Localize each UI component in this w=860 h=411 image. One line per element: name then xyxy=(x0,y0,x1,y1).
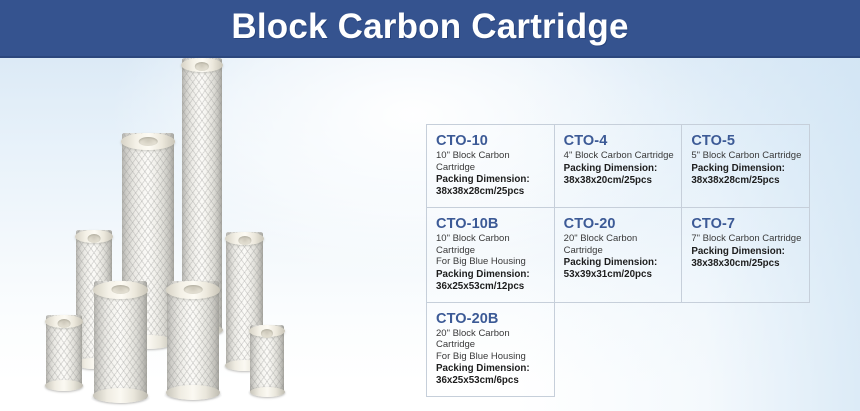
cartridge-top-rim xyxy=(181,58,223,72)
cartridge-bottom-rim xyxy=(166,385,220,400)
cartridge-core-hole xyxy=(238,236,251,245)
spec-pack-label: Packing Dimension: xyxy=(436,269,548,281)
cartridge-bottom-rim xyxy=(45,380,82,391)
page-title: Block Carbon Cartridge xyxy=(0,0,860,56)
product-spec-page: Block Carbon Cartridge xyxy=(0,0,860,411)
spec-cell-cto-7: CTO-7 7ʺ Block Carbon Cartridge Packing … xyxy=(682,208,810,303)
spec-pack-label: Packing Dimension: xyxy=(436,174,548,186)
spec-cell-cto-10: CTO-10 10ʺ Block Carbon Cartridge Packin… xyxy=(427,125,555,208)
cartridge-core-hole xyxy=(139,137,158,146)
header-bar: Block Carbon Cartridge xyxy=(0,0,860,58)
spec-code: CTO-4 xyxy=(564,133,676,149)
spec-code: CTO-20 xyxy=(564,216,676,232)
spec-cell-cto-20b: CTO-20B 20ʺ Block Carbon Cartridge For B… xyxy=(427,302,555,397)
table-row: CTO-20B 20ʺ Block Carbon Cartridge For B… xyxy=(427,302,810,397)
spec-code: CTO-20B xyxy=(436,311,548,327)
spec-code: CTO-10B xyxy=(436,216,548,232)
spec-cell-cto-5: CTO-5 5ʺ Block Carbon Cartridge Packing … xyxy=(682,125,810,208)
cartridge-bottom-rim xyxy=(93,388,148,403)
spec-pack-value: 36x25x53cm/6pcs xyxy=(436,375,548,387)
spec-desc: 4ʺ Block Carbon Cartridge xyxy=(564,150,676,162)
spec-desc: 20ʺ Block Carbon Cartridge xyxy=(564,233,676,256)
table-row: CTO-10 10ʺ Block Carbon Cartridge Packin… xyxy=(427,125,810,208)
cartridge-5-inch xyxy=(46,315,82,387)
cartridge-top-rim xyxy=(249,325,285,337)
cartridge-core-hole xyxy=(195,62,209,71)
cartridge-top-rim xyxy=(93,281,149,299)
cartridge-10b-big-blue-center xyxy=(167,281,219,396)
spec-desc: 10ʺ Block Carbon Cartridge xyxy=(436,233,548,256)
cartridge-10b-big-blue xyxy=(94,281,147,399)
spec-cell-empty xyxy=(554,302,682,397)
cartridge-4-inch xyxy=(250,325,284,393)
spec-pack-value: 38x38x30cm/25pcs xyxy=(691,258,803,270)
spec-pack-value: 38x38x28cm/25pcs xyxy=(436,186,548,198)
spec-code: CTO-10 xyxy=(436,133,548,149)
cartridge-top-rim xyxy=(166,281,221,299)
spec-pack-label: Packing Dimension: xyxy=(564,257,676,269)
spec-desc: 7ʺ Block Carbon Cartridge xyxy=(691,233,803,245)
spec-desc: 20ʺ Block Carbon Cartridge xyxy=(436,328,548,351)
spec-cell-cto-4: CTO-4 4ʺ Block Carbon Cartridge Packing … xyxy=(554,125,682,208)
spec-pack-label: Packing Dimension: xyxy=(436,363,548,375)
spec-cell-cto-10b: CTO-10B 10ʺ Block Carbon Cartridge For B… xyxy=(427,208,555,303)
spec-cell-empty xyxy=(682,302,810,397)
spec-pack-label: Packing Dimension: xyxy=(691,246,803,258)
cartridge-core-hole xyxy=(261,329,273,338)
spec-pack-value: 38x38x20cm/25pcs xyxy=(564,175,676,187)
cartridge-core-hole xyxy=(88,234,101,243)
spec-desc: 5ʺ Block Carbon Cartridge xyxy=(691,150,803,162)
spec-table: CTO-10 10ʺ Block Carbon Cartridge Packin… xyxy=(426,124,810,397)
spec-pack-value: 53x39x31cm/20pcs xyxy=(564,269,676,281)
cartridge-core-hole xyxy=(111,285,130,294)
cartridge-top-rim xyxy=(75,230,113,243)
spec-desc-line2: For Big Blue Housing xyxy=(436,351,548,363)
table-row: CTO-10B 10ʺ Block Carbon Cartridge For B… xyxy=(427,208,810,303)
spec-pack-label: Packing Dimension: xyxy=(691,163,803,175)
cartridge-bottom-rim xyxy=(250,387,285,397)
product-photo xyxy=(0,58,420,411)
spec-cell-cto-20: CTO-20 20ʺ Block Carbon Cartridge Packin… xyxy=(554,208,682,303)
spec-desc: 10ʺ Block Carbon Cartridge xyxy=(436,150,548,173)
spec-pack-value: 38x38x28cm/25pcs xyxy=(691,175,803,187)
cartridge-top-rim xyxy=(121,133,176,150)
cartridge-core-hole xyxy=(58,319,71,328)
cartridge-top-rim xyxy=(45,315,83,328)
cartridge-top-rim xyxy=(225,232,264,245)
spec-pack-value: 36x25x53cm/12pcs xyxy=(436,281,548,293)
spec-pack-label: Packing Dimension: xyxy=(564,163,676,175)
spec-code: CTO-7 xyxy=(691,216,803,232)
spec-code: CTO-5 xyxy=(691,133,803,149)
cartridge-core-hole xyxy=(184,285,203,294)
spec-desc-line2: For Big Blue Housing xyxy=(436,256,548,268)
